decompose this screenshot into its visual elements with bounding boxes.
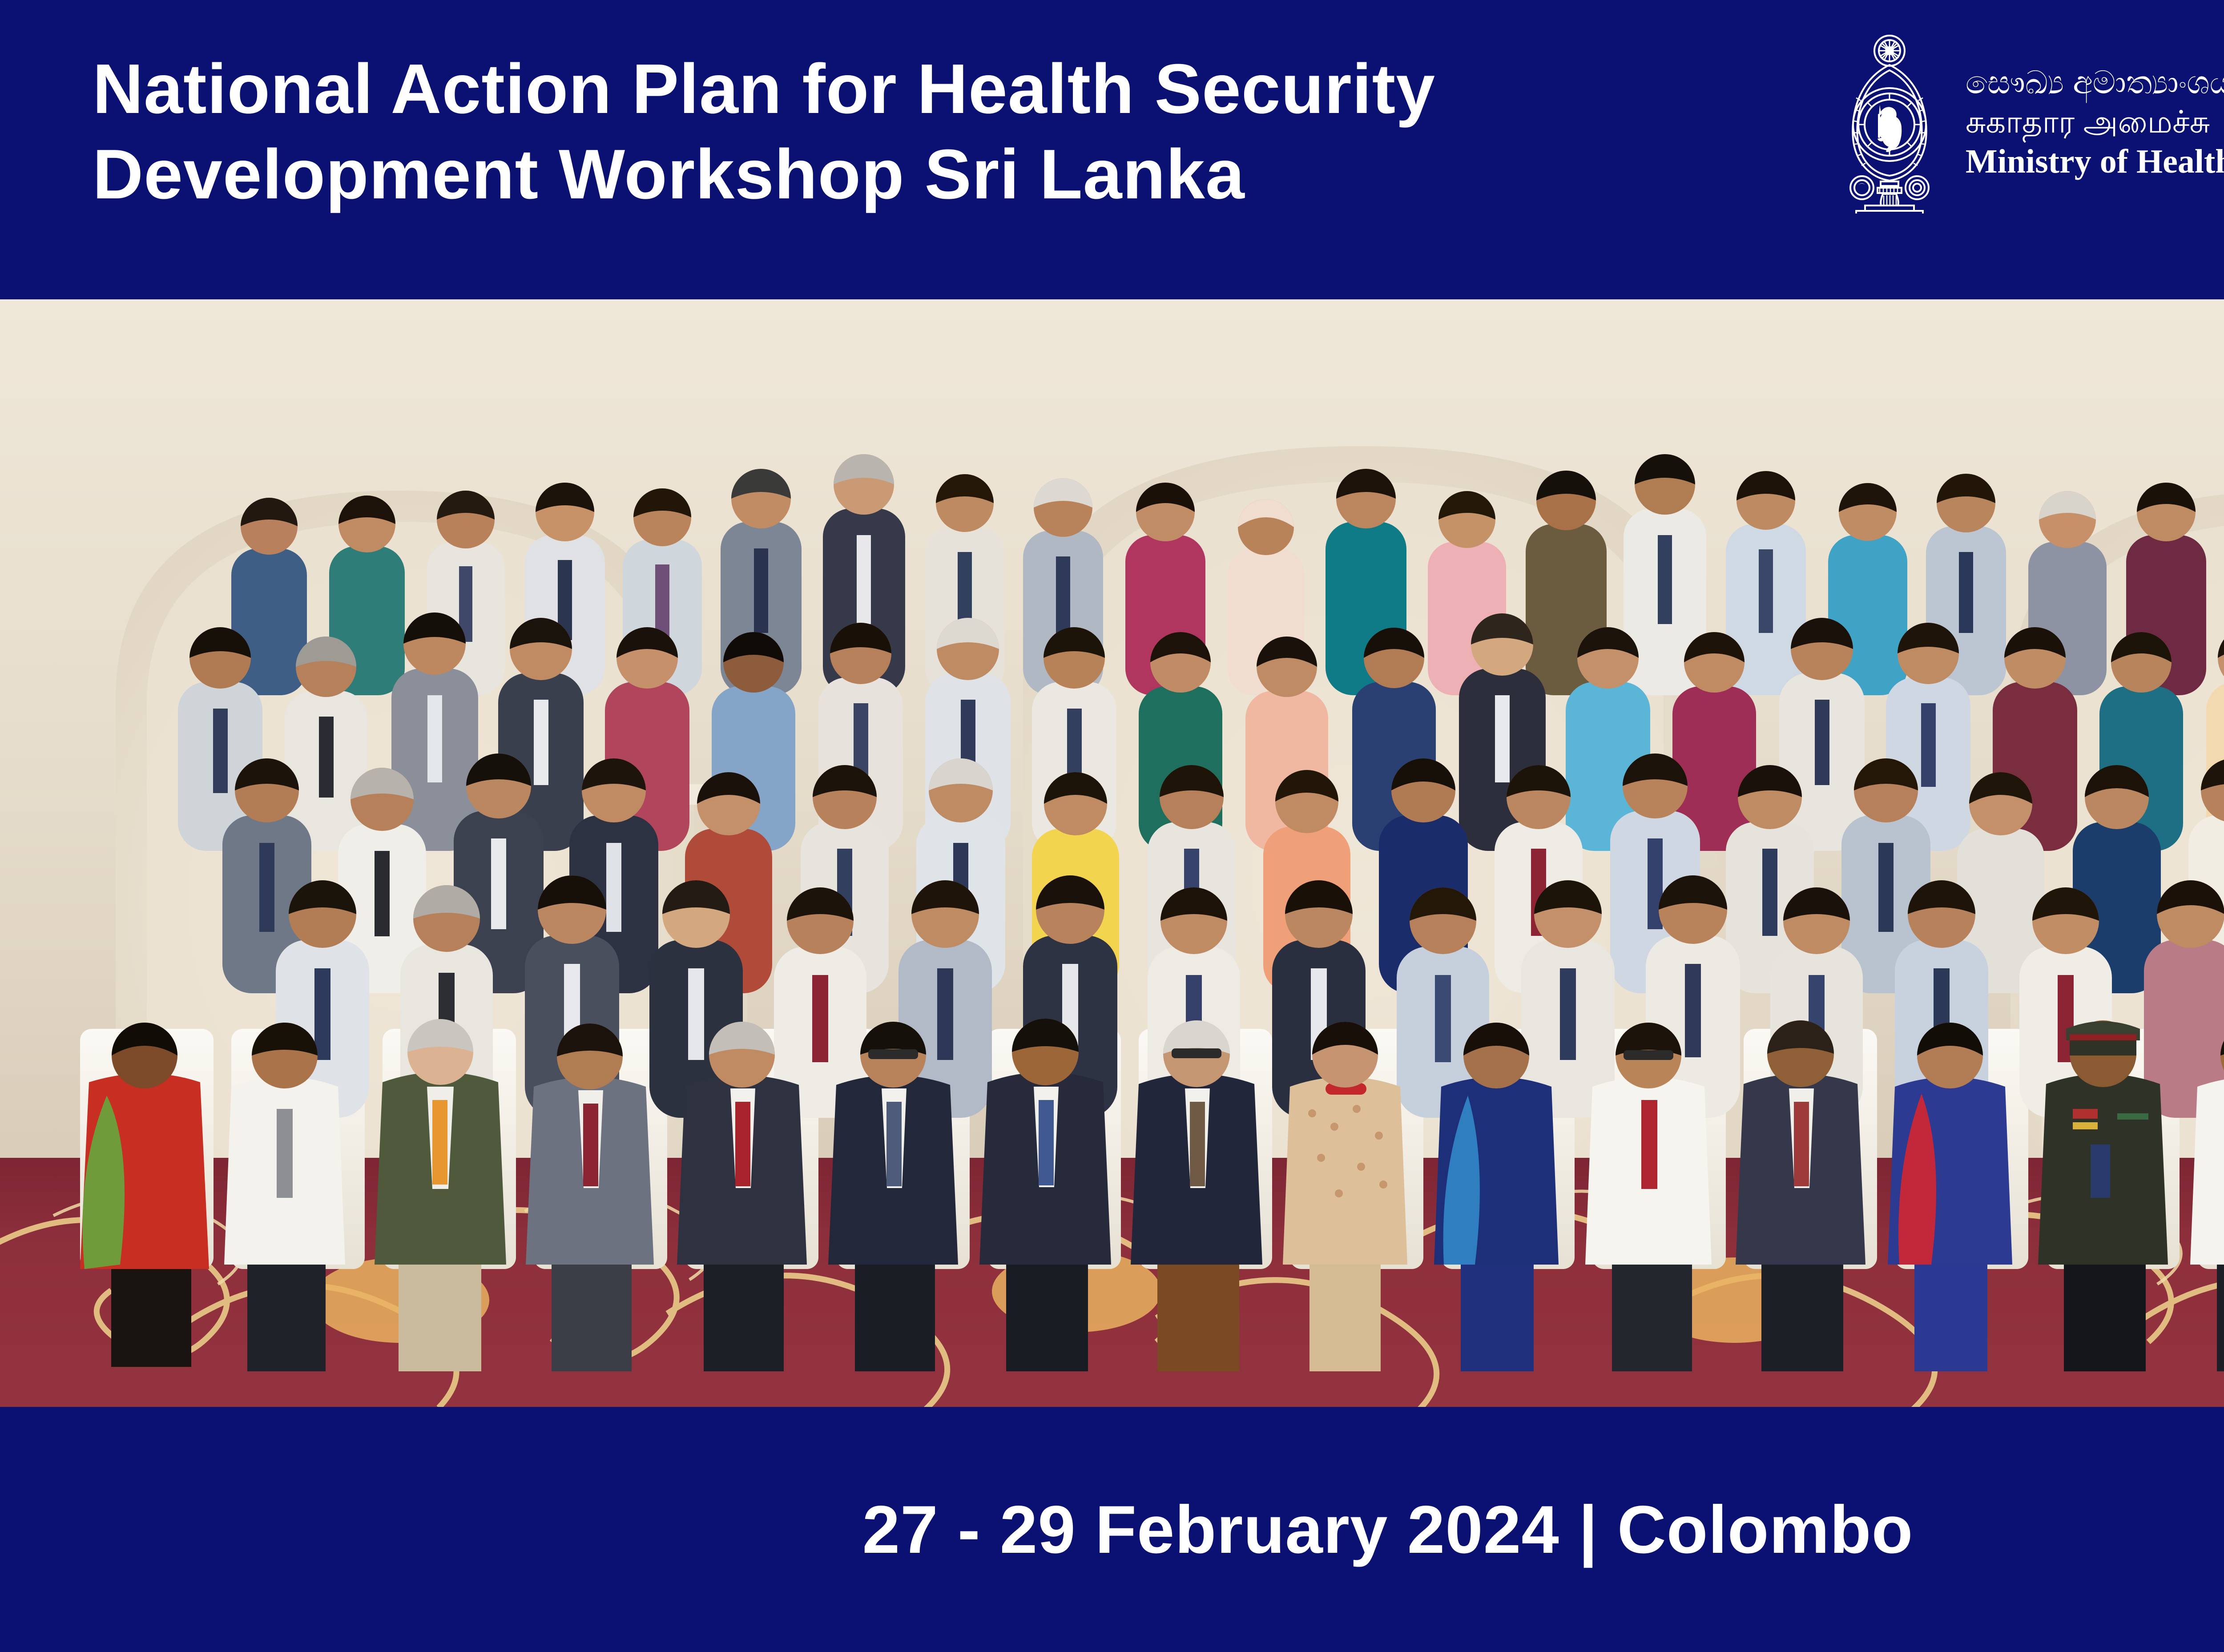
group-photograph bbox=[0, 299, 2224, 1407]
event-dates-location: 27 - 29 February 2024 | Colombo bbox=[862, 1494, 1914, 1565]
event-banner: National Action Plan for Health Security… bbox=[0, 0, 2224, 1652]
ministry-of-health-wordmark: සෞඛ්‍ය අමාත්‍යාංශය சுகாதார அமைச்சு Minis… bbox=[1966, 64, 2224, 181]
title-line-2: Development Workshop Sri Lanka bbox=[93, 132, 1649, 217]
header-band: National Action Plan for Health Security… bbox=[0, 0, 2224, 299]
footer-band: 27 - 29 February 2024 | Colombo bbox=[0, 1407, 2224, 1652]
group-photo-illustration bbox=[0, 299, 2224, 1407]
ministry-of-health-logo: සෞඛ්‍ය අමාත්‍යාංශය சுகாதார அமைச்சு Minis… bbox=[1834, 31, 2224, 214]
moh-name-tamil: சுகாதார அமைச்சு bbox=[1966, 103, 2224, 141]
title-line-1: National Action Plan for Health Security bbox=[93, 46, 1649, 132]
logo-row: සෞඛ්‍ය අමාත්‍යාංශය சுகாதார அமைச்சு Minis… bbox=[1834, 31, 2224, 214]
moh-name-english: Ministry of Health bbox=[1966, 142, 2224, 181]
moh-name-sinhala: සෞඛ්‍ය අමාත්‍යාංශය bbox=[1966, 64, 2224, 101]
sri-lanka-national-emblem-icon bbox=[1834, 31, 1945, 214]
page-title: National Action Plan for Health Security… bbox=[93, 46, 1649, 217]
